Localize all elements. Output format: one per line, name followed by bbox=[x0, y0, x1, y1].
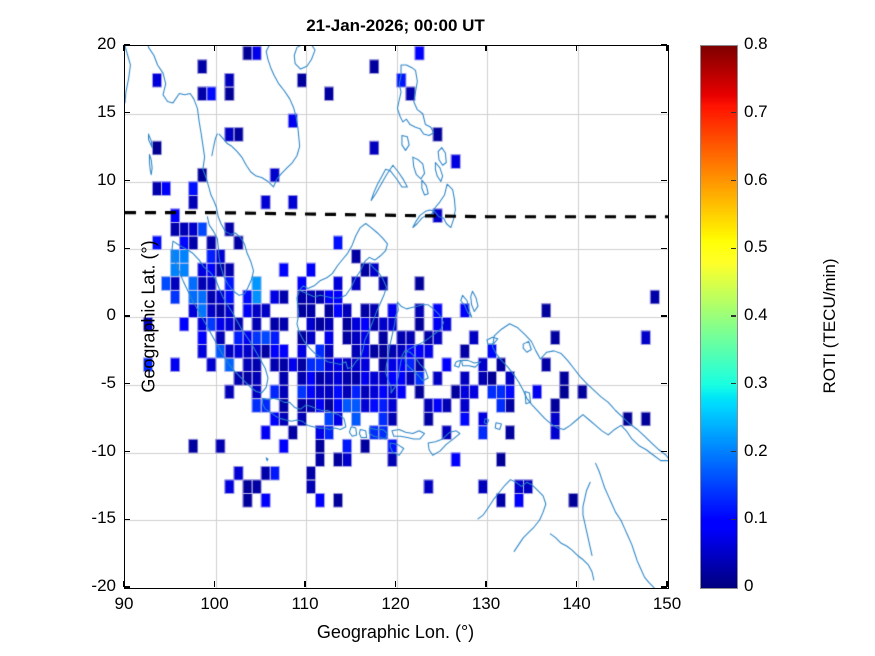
y-tick-mark bbox=[124, 180, 130, 181]
colorbar-tick-mark bbox=[731, 519, 736, 520]
y-tick-label: -5 bbox=[62, 373, 116, 393]
colorbar-tick-mark bbox=[731, 451, 736, 452]
colorbar-tick-mark bbox=[731, 383, 736, 384]
colorbar bbox=[700, 45, 738, 589]
x-tick-mark bbox=[395, 581, 396, 587]
y-tick-mark bbox=[124, 112, 130, 113]
y-tick-mark-right bbox=[661, 451, 667, 452]
x-tick-mark bbox=[485, 581, 486, 587]
x-tick-mark bbox=[304, 581, 305, 587]
x-tick-label: 120 bbox=[366, 594, 426, 614]
y-tick-mark-right bbox=[661, 248, 667, 249]
y-tick-label: 0 bbox=[62, 305, 116, 325]
roti-heatmap-canvas bbox=[125, 46, 668, 588]
colorbar-tick-label: 0.1 bbox=[744, 508, 768, 528]
colorbar-tick-label: 0 bbox=[744, 576, 753, 596]
x-tick-mark-top bbox=[485, 45, 486, 51]
y-tick-mark bbox=[124, 586, 130, 587]
y-tick-mark-right bbox=[661, 112, 667, 113]
x-axis-label: Geographic Lon. (°) bbox=[124, 622, 667, 643]
x-tick-mark-top bbox=[576, 45, 577, 51]
colorbar-tick-mark bbox=[731, 112, 736, 113]
x-tick-mark-top bbox=[123, 45, 124, 51]
y-tick-label: 10 bbox=[62, 170, 116, 190]
y-tick-mark-right bbox=[661, 44, 667, 45]
y-tick-label: 5 bbox=[62, 237, 116, 257]
colorbar-tick-label: 0.3 bbox=[744, 373, 768, 393]
colorbar-tick-label: 0.8 bbox=[744, 34, 768, 54]
y-tick-mark bbox=[124, 248, 130, 249]
page-title: 21-Jan-2026; 00:00 UT bbox=[124, 16, 667, 36]
colorbar-tick-label: 0.6 bbox=[744, 170, 768, 190]
y-axis-label: Geographic Lat. (°) bbox=[139, 46, 160, 588]
x-tick-label: 110 bbox=[275, 594, 335, 614]
colorbar-gradient bbox=[701, 46, 737, 588]
x-tick-mark bbox=[576, 581, 577, 587]
x-tick-label: 100 bbox=[185, 594, 245, 614]
y-tick-mark-right bbox=[661, 383, 667, 384]
colorbar-tick-label: 0.7 bbox=[744, 102, 768, 122]
y-tick-mark-right bbox=[661, 586, 667, 587]
colorbar-tick-mark bbox=[731, 180, 736, 181]
x-tick-label: 140 bbox=[547, 594, 607, 614]
y-tick-mark bbox=[124, 451, 130, 452]
x-tick-label: 150 bbox=[637, 594, 697, 614]
y-tick-mark-right bbox=[661, 519, 667, 520]
colorbar-tick-mark bbox=[731, 248, 736, 249]
y-tick-mark bbox=[124, 383, 130, 384]
y-tick-mark bbox=[124, 44, 130, 45]
y-tick-mark bbox=[124, 519, 130, 520]
x-tick-label: 90 bbox=[94, 594, 154, 614]
colorbar-tick-label: 0.2 bbox=[744, 441, 768, 461]
x-tick-mark-top bbox=[666, 45, 667, 51]
x-tick-mark bbox=[214, 581, 215, 587]
y-tick-label: -10 bbox=[62, 441, 116, 461]
y-tick-mark-right bbox=[661, 315, 667, 316]
x-tick-label: 130 bbox=[456, 594, 516, 614]
figure-container: 21-Jan-2026; 00:00 UT 901001101201301401… bbox=[0, 0, 875, 656]
y-tick-label: 20 bbox=[62, 34, 116, 54]
colorbar-tick-mark bbox=[731, 315, 736, 316]
plot-axes bbox=[124, 45, 669, 589]
y-tick-label: -20 bbox=[62, 576, 116, 596]
y-tick-label: 15 bbox=[62, 102, 116, 122]
x-tick-mark-top bbox=[214, 45, 215, 51]
colorbar-label: ROTI (TECU/min) bbox=[820, 55, 840, 597]
colorbar-tick-label: 0.5 bbox=[744, 237, 768, 257]
y-tick-mark bbox=[124, 315, 130, 316]
colorbar-tick-label: 0.4 bbox=[744, 305, 768, 325]
y-tick-label: -15 bbox=[62, 508, 116, 528]
y-tick-mark-right bbox=[661, 180, 667, 181]
x-tick-mark-top bbox=[395, 45, 396, 51]
x-tick-mark-top bbox=[304, 45, 305, 51]
